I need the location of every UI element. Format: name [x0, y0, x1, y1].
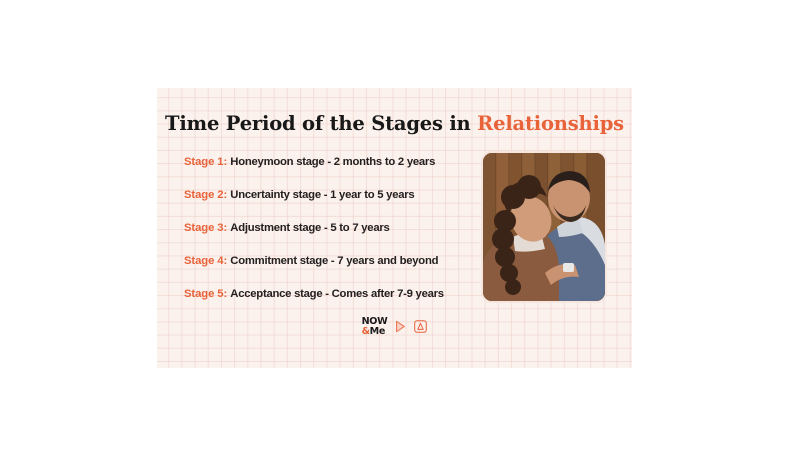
stage-label: Stage 3: [184, 222, 227, 234]
stage-list: Stage 1: Honeymoon stage - 2 months to 2… [184, 155, 494, 320]
page-title-accent: Relationships [477, 112, 624, 135]
page-title: Time Period of the Stages in Relationshi… [157, 112, 632, 135]
couple-photo-illustration [483, 153, 605, 301]
list-item: Stage 4: Commitment stage - 7 years and … [184, 254, 494, 287]
card-footer: NOW &Me [157, 317, 632, 336]
infographic-card: Time Period of the Stages in Relationshi… [157, 88, 632, 368]
brand-logo-line2: &Me [362, 327, 386, 337]
stage-label: Stage 4: [184, 255, 227, 267]
list-item: Stage 2: Uncertainty stage - 1 year to 5… [184, 188, 494, 221]
page-title-main: Time Period of the Stages in [165, 112, 477, 135]
google-play-badge[interactable] [394, 320, 407, 333]
list-item: Stage 1: Honeymoon stage - 2 months to 2… [184, 155, 494, 188]
list-item: Stage 3: Adjustment stage - 5 to 7 years [184, 221, 494, 254]
google-play-icon [394, 320, 407, 333]
stage-label: Stage 2: [184, 189, 227, 201]
stage-label: Stage 1: [184, 156, 227, 168]
stage-text: Adjustment stage - 5 to 7 years [230, 222, 389, 234]
stage-text: Uncertainty stage - 1 year to 5 years [230, 189, 414, 201]
list-item: Stage 5: Acceptance stage - Comes after … [184, 287, 494, 320]
stage-label: Stage 5: [184, 288, 227, 300]
couple-photo [481, 151, 607, 303]
brand-logo-me: Me [370, 326, 385, 337]
app-store-icon [414, 320, 427, 333]
app-store-badge[interactable] [414, 320, 427, 333]
brand-logo-ampersand: & [362, 326, 370, 337]
stage-text: Acceptance stage - Comes after 7-9 years [230, 288, 444, 300]
stage-text: Commitment stage - 7 years and beyond [230, 255, 438, 267]
brand-logo: NOW &Me [362, 317, 388, 336]
stage-text: Honeymoon stage - 2 months to 2 years [230, 156, 435, 168]
